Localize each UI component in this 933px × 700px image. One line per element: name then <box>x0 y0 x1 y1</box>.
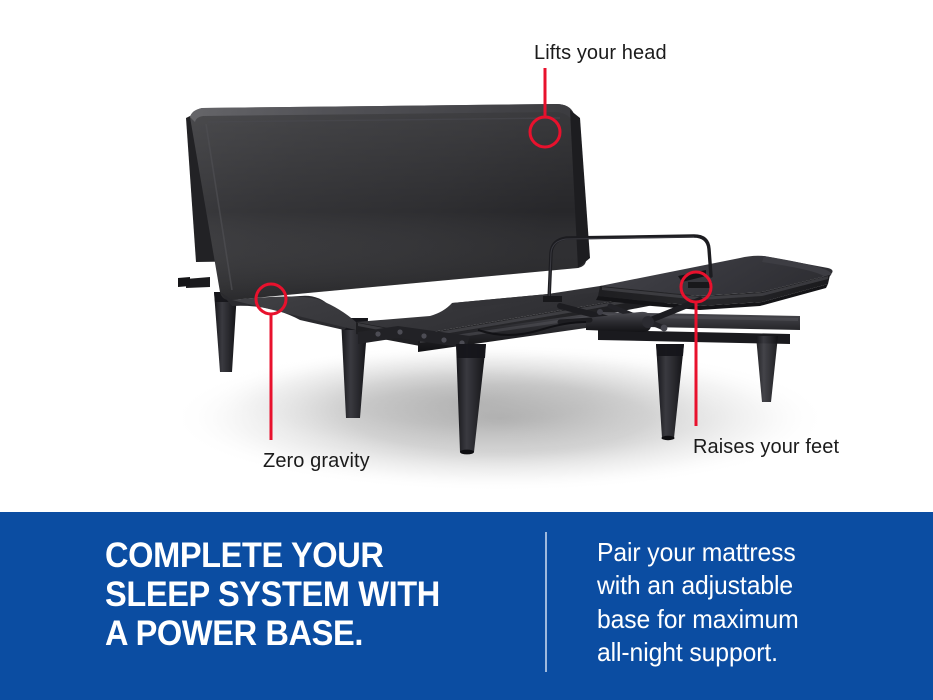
subtext-column: Pair your mattress with an adjustable ba… <box>545 512 809 669</box>
pivot-bolt-2 <box>661 325 668 332</box>
headline-column: COMPLETE YOUR SLEEP SYSTEM WITH A POWER … <box>0 512 545 654</box>
callout-label-raises-your-feet: Raises your feet <box>693 437 839 457</box>
banner-vertical-divider <box>545 532 547 672</box>
banner-subtext: Pair your mattress with an adjustable ba… <box>597 536 799 669</box>
blue-promo-banner: COMPLETE YOUR SLEEP SYSTEM WITH A POWER … <box>0 512 933 700</box>
product-hero-area: Lifts your head Zero gravity Raises your… <box>0 0 933 512</box>
callout-label-zero-gravity: Zero gravity <box>263 451 370 471</box>
pivot-bolt-3 <box>597 309 603 315</box>
promo-banner-page: Lifts your head Zero gravity Raises your… <box>0 0 933 700</box>
banner-headline: COMPLETE YOUR SLEEP SYSTEM WITH A POWER … <box>105 537 514 654</box>
callout-label-lifts-your-head: Lifts your head <box>534 43 667 63</box>
